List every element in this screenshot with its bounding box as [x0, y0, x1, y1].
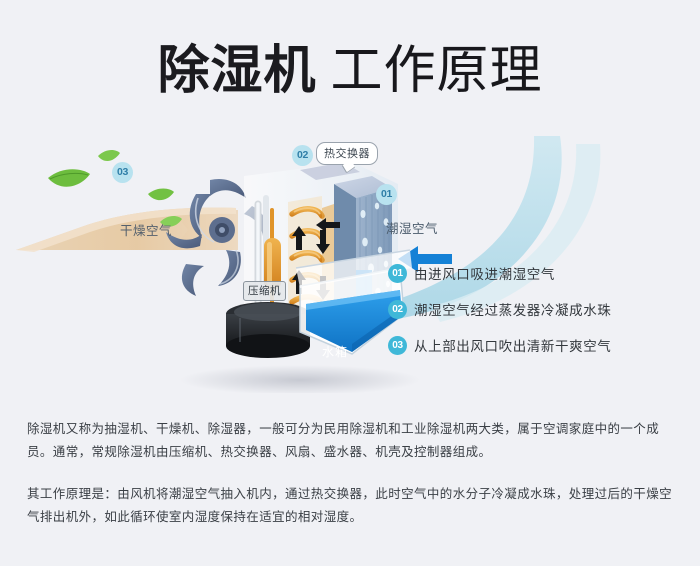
legend-text-03: 从上部出风口吹出清新干爽空气: [414, 335, 611, 355]
legend-badge-03: 03: [388, 336, 407, 355]
list-item: 02 潮湿空气经过蒸发器冷凝成水珠: [388, 291, 678, 327]
ground-shadow: [180, 365, 420, 393]
list-item: 03 从上部出风口吹出清新干爽空气: [388, 327, 678, 363]
page-title-primary: 除湿机: [157, 42, 316, 100]
diagram-badge-02: 02: [292, 145, 313, 166]
legend-badge-01: 01: [388, 264, 407, 283]
description-block: 除湿机又称为抽湿机、干燥机、除湿器，一般可分为民用除湿机和工业除湿机两大类，属于…: [27, 418, 675, 529]
water-tank-label: 水箱: [322, 343, 348, 360]
diagram-badge-03: 03: [112, 162, 133, 183]
compressor-label: 压缩机: [243, 281, 286, 301]
humid-air-label: 潮湿空气: [386, 218, 438, 237]
leaf-icon-2: [98, 150, 120, 161]
diagram-badge-01: 01: [376, 184, 397, 205]
legend-text-02: 潮湿空气经过蒸发器冷凝成水珠: [414, 299, 611, 319]
description-paragraph-2: 其工作原理是：由风机将潮湿空气抽入机内，通过热交换器，此时空气中的水分子冷凝成水…: [27, 483, 675, 529]
leaf-icon-1: [48, 169, 90, 186]
legend-list: 01 由进风口吸进潮湿空气 02 潮湿空气经过蒸发器冷凝成水珠 03 从上部出风…: [388, 255, 678, 363]
page-title: 除湿机工作原理: [0, 28, 700, 103]
compressor-housing: [226, 302, 310, 358]
legend-text-01: 由进风口吸进潮湿空气: [414, 263, 555, 283]
leaf-icon-3: [148, 189, 174, 201]
description-paragraph-1: 除湿机又称为抽湿机、干燥机、除湿器，一般可分为民用除湿机和工业除湿机两大类，属于…: [27, 418, 675, 464]
legend-badge-02: 02: [388, 300, 407, 319]
heat-exchanger-callout: 热交换器: [316, 142, 378, 165]
dry-air-label: 干燥空气: [120, 220, 172, 239]
list-item: 01 由进风口吸进潮湿空气: [388, 255, 678, 291]
page-title-secondary: 工作原理: [331, 42, 543, 100]
